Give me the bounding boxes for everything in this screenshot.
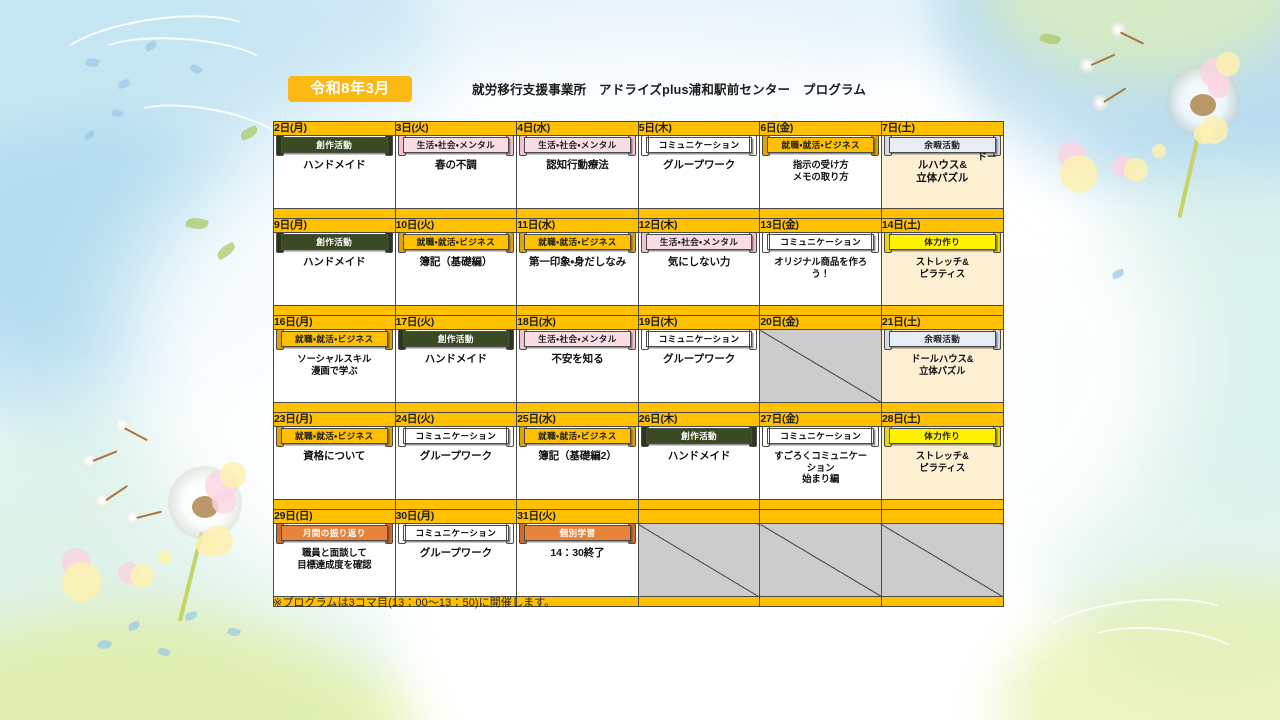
category-ribbon: 創作活動 <box>398 331 515 347</box>
day-cell[interactable]: 就職・就活・ビジネス簿記（基礎編） <box>395 233 517 306</box>
session-detail: ソーシャルスキル 漫画で学ぶ <box>274 350 395 376</box>
day-header-cell: 10日(火) <box>395 219 517 233</box>
category-ribbon: 就職・就活・ビジネス <box>762 137 879 153</box>
day-cell[interactable]: コミュニケーショングループワーク <box>638 330 760 403</box>
day-cell-closed <box>881 524 1003 597</box>
spacer-cell <box>517 306 639 316</box>
session-detail: 春の不調 <box>396 156 517 172</box>
category-label: コミュニケーション <box>646 137 753 153</box>
session-detail: 第一印象・身だしなみ <box>517 253 638 269</box>
category-ribbon: 就職・就活・ビジネス <box>519 428 636 444</box>
day-cell[interactable]: 創作活動ハンドメイド <box>274 233 396 306</box>
calendar-spacer-row <box>274 403 1004 413</box>
day-header-cell: 28日(土) <box>881 413 1003 427</box>
spacer-cell <box>760 500 882 510</box>
session-detail: 不安を知る <box>517 350 638 366</box>
category-ribbon: 生活・社会・メンタル <box>519 137 636 153</box>
category-label: 個別学習 <box>524 525 631 541</box>
category-ribbon: 創作活動 <box>276 234 393 250</box>
spacer-cell <box>881 403 1003 413</box>
day-cell-closed <box>760 330 882 403</box>
category-label: 就職・就活・ビジネス <box>281 331 388 347</box>
calendar-week-row: 創作活動ハンドメイド就職・就活・ビジネス簿記（基礎編）就職・就活・ビジネス第一印… <box>274 233 1004 306</box>
day-cell[interactable]: コミュニケーションオリジナル商品を作ろ う！ <box>760 233 882 306</box>
session-detail: 資格について <box>274 447 395 463</box>
day-cell[interactable]: 余暇活動ドールハウス& 立体パズル <box>881 136 1003 209</box>
calendar-week-header-row: 23日(月)24日(火)25日(水)26日(木)27日(金)28日(土) <box>274 413 1004 427</box>
spacer-cell <box>638 500 760 510</box>
session-detail: 認知行動療法 <box>517 156 638 172</box>
day-header-cell: 23日(月) <box>274 413 396 427</box>
spacer-cell <box>517 500 639 510</box>
day-cell-closed <box>760 524 882 597</box>
spacer-cell <box>395 306 517 316</box>
day-header-cell: 30日(月) <box>395 510 517 524</box>
day-cell[interactable]: 創作活動ハンドメイド <box>395 330 517 403</box>
category-label: 就職・就活・ビジネス <box>767 137 874 153</box>
day-header-cell: 17日(火) <box>395 316 517 330</box>
category-label: コミュニケーション <box>646 331 753 347</box>
spacer-cell <box>274 209 396 219</box>
day-cell[interactable]: 就職・就活・ビジネス第一印象・身だしなみ <box>517 233 639 306</box>
day-header-cell: 21日(土) <box>881 316 1003 330</box>
day-header-cell: 5日(木) <box>638 122 760 136</box>
session-detail: グループワーク <box>396 447 517 463</box>
spacer-cell <box>274 306 396 316</box>
session-detail: オリジナル商品を作ろ う！ <box>760 253 881 279</box>
category-label: 月間の振り返り <box>281 525 388 541</box>
spacer-cell <box>517 403 639 413</box>
session-detail: 簿記（基礎編） <box>396 253 517 269</box>
category-label: 余暇活動 <box>889 137 996 153</box>
calendar-week-row: 就職・就活・ビジネス資格についてコミュニケーショングループワーク就職・就活・ビジ… <box>274 427 1004 500</box>
category-ribbon: コミュニケーション <box>398 525 515 541</box>
session-detail: ハンドメイド <box>639 447 760 463</box>
category-ribbon: 創作活動 <box>641 428 758 444</box>
calendar-spacer-row <box>274 500 1004 510</box>
category-label: 余暇活動 <box>889 331 996 347</box>
spacer-cell <box>760 597 882 607</box>
session-detail: 職員と面談して 目標達成度を確認 <box>274 544 395 570</box>
day-cell[interactable]: 個別学習14：30終了 <box>517 524 639 597</box>
category-label: コミュニケーション <box>767 428 874 444</box>
session-detail: ハンドメイド <box>396 350 517 366</box>
overflow-text-fragment: ドー <box>978 153 997 163</box>
spacer-cell <box>760 403 882 413</box>
spacer-cell <box>638 403 760 413</box>
category-ribbon: コミュニケーション <box>398 428 515 444</box>
session-detail: グループワーク <box>639 156 760 172</box>
spacer-cell <box>760 209 882 219</box>
category-ribbon: 生活・社会・メンタル <box>398 137 515 153</box>
calendar-week-row: 就職・就活・ビジネスソーシャルスキル 漫画で学ぶ創作活動ハンドメイド生活・社会・… <box>274 330 1004 403</box>
category-label: 就職・就活・ビジネス <box>403 234 510 250</box>
calendar-spacer-row <box>274 209 1004 219</box>
category-ribbon: 就職・就活・ビジネス <box>519 234 636 250</box>
category-label: 就職・就活・ビジネス <box>524 234 631 250</box>
month-badge: 令和8年3月 <box>288 76 412 102</box>
category-ribbon: 余暇活動 <box>884 331 1001 347</box>
day-header-cell: 9日(月) <box>274 219 396 233</box>
day-cell[interactable]: 就職・就活・ビジネスソーシャルスキル 漫画で学ぶ <box>274 330 396 403</box>
session-detail: 指示の受け方 メモの取り方 <box>760 156 881 182</box>
spacer-cell <box>881 306 1003 316</box>
category-ribbon: 就職・就活・ビジネス <box>276 428 393 444</box>
day-cell[interactable]: 体力作りストレッチ& ピラティス <box>881 233 1003 306</box>
day-header-cell <box>881 510 1003 524</box>
day-header-cell: 24日(火) <box>395 413 517 427</box>
spacer-cell <box>881 209 1003 219</box>
category-label: 生活・社会・メンタル <box>524 137 631 153</box>
day-header-cell: 4日(水) <box>517 122 639 136</box>
category-label: 創作活動 <box>281 137 388 153</box>
day-cell[interactable]: 就職・就活・ビジネス簿記（基礎編2） <box>517 427 639 500</box>
category-label: コミュニケーション <box>403 428 510 444</box>
day-header-cell: 25日(水) <box>517 413 639 427</box>
day-cell[interactable]: 生活・社会・メンタル春の不調 <box>395 136 517 209</box>
calendar-week-header-row: 29日(日)30日(月)31日(火) <box>274 510 1004 524</box>
day-header-cell: 7日(土) <box>881 122 1003 136</box>
session-detail: 簿記（基礎編2） <box>517 447 638 463</box>
category-label: コミュニケーション <box>767 234 874 250</box>
spacer-cell <box>395 209 517 219</box>
calendar-week-header-row: 16日(月)17日(火)18日(水)19日(木)20日(金)21日(土) <box>274 316 1004 330</box>
day-cell-closed <box>638 524 760 597</box>
category-ribbon: 就職・就活・ビジネス <box>398 234 515 250</box>
day-header-cell: 13日(金) <box>760 219 882 233</box>
category-ribbon: 就職・就活・ビジネス <box>276 331 393 347</box>
session-detail: ハンドメイド <box>274 156 395 172</box>
day-cell[interactable]: 就職・就活・ビジネス指示の受け方 メモの取り方 <box>760 136 882 209</box>
document-header: 令和8年3月 就労移行支援事業所 アドライズplus浦和駅前センター プログラム <box>262 70 1022 110</box>
calendar-week-header-row: 2日(月)3日(火)4日(水)5日(木)6日(金)7日(土) <box>274 122 1004 136</box>
category-label: 生活・社会・メンタル <box>403 137 510 153</box>
day-header-cell <box>638 510 760 524</box>
spacer-cell <box>881 597 1003 607</box>
category-ribbon: 体力作り <box>884 428 1001 444</box>
day-cell[interactable]: 余暇活動ドールハウス& 立体パズル <box>881 330 1003 403</box>
session-detail: 14：30終了 <box>517 544 638 560</box>
session-detail: グループワーク <box>396 544 517 560</box>
day-header-cell: 2日(月) <box>274 122 396 136</box>
day-header-cell: 20日(金) <box>760 316 882 330</box>
day-cell[interactable]: 創作活動ハンドメイド <box>638 427 760 500</box>
day-cell[interactable]: 生活・社会・メンタル不安を知る <box>517 330 639 403</box>
day-header-cell: 19日(木) <box>638 316 760 330</box>
session-detail: ストレッチ& ピラティス <box>882 447 1003 473</box>
day-header-cell: 26日(木) <box>638 413 760 427</box>
session-detail: すごろくコミュニケー ション 始まり編 <box>760 447 881 485</box>
spacer-cell <box>395 500 517 510</box>
spacer-cell <box>760 306 882 316</box>
category-label: 生活・社会・メンタル <box>524 331 631 347</box>
spacer-cell <box>638 597 760 607</box>
day-cell[interactable]: 月間の振り返り職員と面談して 目標達成度を確認 <box>274 524 396 597</box>
category-label: 就職・就活・ビジネス <box>281 428 388 444</box>
day-cell[interactable]: コミュニケーショングループワーク <box>638 136 760 209</box>
calendar-week-row: 創作活動ハンドメイド生活・社会・メンタル春の不調生活・社会・メンタル認知行動療法… <box>274 136 1004 209</box>
page-title: 就労移行支援事業所 アドライズplus浦和駅前センター プログラム <box>472 79 866 98</box>
category-label: 体力作り <box>889 234 996 250</box>
category-ribbon: 月間の振り返り <box>276 525 393 541</box>
day-header-cell: 11日(水) <box>517 219 639 233</box>
category-ribbon: 創作活動 <box>276 137 393 153</box>
category-ribbon: コミュニケーション <box>762 428 879 444</box>
day-header-cell: 3日(火) <box>395 122 517 136</box>
spacer-cell <box>638 306 760 316</box>
spacer-cell <box>881 500 1003 510</box>
day-header-cell: 18日(水) <box>517 316 639 330</box>
session-detail: ドールハウス& 立体パズル <box>882 350 1003 376</box>
day-cell[interactable]: 創作活動ハンドメイド <box>274 136 396 209</box>
footnote: ※プログラムは3コマ目(13：00〜13：50)に開催します。 <box>273 594 555 610</box>
category-ribbon: 余暇活動 <box>884 137 1001 153</box>
category-label: 体力作り <box>889 428 996 444</box>
category-ribbon: 生活・社会・メンタル <box>641 234 758 250</box>
category-ribbon: コミュニケーション <box>762 234 879 250</box>
category-ribbon: 生活・社会・メンタル <box>519 331 636 347</box>
program-content: 令和8年3月 就労移行支援事業所 アドライズplus浦和駅前センター プログラム… <box>0 0 1280 720</box>
category-label: 創作活動 <box>403 331 510 347</box>
day-header-cell: 12日(木) <box>638 219 760 233</box>
day-cell[interactable]: コミュニケーショングループワーク <box>395 427 517 500</box>
category-ribbon: 体力作り <box>884 234 1001 250</box>
category-ribbon: 個別学習 <box>519 525 636 541</box>
category-ribbon: コミュニケーション <box>641 137 758 153</box>
spacer-cell <box>395 403 517 413</box>
day-header-cell: 16日(月) <box>274 316 396 330</box>
program-calendar-page: 令和8年3月 就労移行支援事業所 アドライズplus浦和駅前センター プログラム… <box>0 0 1280 720</box>
session-detail: 気にしない力 <box>639 253 760 269</box>
day-cell[interactable]: 生活・社会・メンタル気にしない力 <box>638 233 760 306</box>
spacer-cell <box>274 500 396 510</box>
day-header-cell: 27日(金) <box>760 413 882 427</box>
session-detail: グループワーク <box>639 350 760 366</box>
category-label: 創作活動 <box>646 428 753 444</box>
category-label: 創作活動 <box>281 234 388 250</box>
session-detail: ストレッチ& ピラティス <box>882 253 1003 279</box>
spacer-cell <box>274 403 396 413</box>
day-cell[interactable]: 体力作りストレッチ& ピラティス <box>881 427 1003 500</box>
session-detail: ハンドメイド <box>274 253 395 269</box>
day-cell[interactable]: 就職・就活・ビジネス資格について <box>274 427 396 500</box>
day-header-cell: 31日(火) <box>517 510 639 524</box>
day-header-cell: 29日(日) <box>274 510 396 524</box>
category-label: 生活・社会・メンタル <box>646 234 753 250</box>
calendar-spacer-row <box>274 306 1004 316</box>
spacer-cell <box>517 209 639 219</box>
spacer-cell <box>638 209 760 219</box>
day-header-cell <box>760 510 882 524</box>
calendar-week-row: 月間の振り返り職員と面談して 目標達成度を確認コミュニケーショングループワーク個… <box>274 524 1004 597</box>
category-ribbon: コミュニケーション <box>641 331 758 347</box>
day-cell[interactable]: 生活・社会・メンタル認知行動療法 <box>517 136 639 209</box>
calendar-week-header-row: 9日(月)10日(火)11日(水)12日(木)13日(金)14日(土) <box>274 219 1004 233</box>
day-header-cell: 6日(金) <box>760 122 882 136</box>
day-cell[interactable]: コミュニケーションすごろくコミュニケー ション 始まり編 <box>760 427 882 500</box>
category-label: 就職・就活・ビジネス <box>524 428 631 444</box>
category-label: コミュニケーション <box>403 525 510 541</box>
day-cell[interactable]: コミュニケーショングループワーク <box>395 524 517 597</box>
program-calendar-table: 2日(月)3日(火)4日(水)5日(木)6日(金)7日(土)創作活動ハンドメイド… <box>273 121 1004 607</box>
day-header-cell: 14日(土) <box>881 219 1003 233</box>
